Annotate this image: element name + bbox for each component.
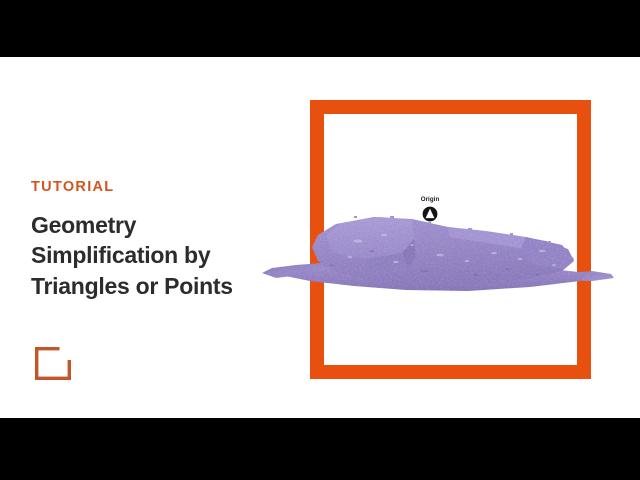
origin-gizmo[interactable]: Origin — [406, 197, 454, 229]
text-block: TUTORIAL Geometry Simplification by Tria… — [31, 180, 283, 301]
corner-bracket-logo — [35, 347, 71, 380]
origin-label: Origin — [406, 197, 454, 203]
headline-line-1: Geometry — [31, 210, 283, 241]
slide-stage: Origin TUTORIAL Geometry Simplification … — [0, 57, 640, 418]
letterbox-bar-bottom — [0, 418, 640, 480]
eyebrow-label: TUTORIAL — [31, 180, 283, 195]
letterbox-bar-top — [0, 0, 640, 57]
origin-cone-marker[interactable] — [422, 206, 438, 222]
orange-square-frame — [310, 100, 591, 379]
page-title: Geometry Simplification by Triangles or … — [31, 210, 283, 302]
headline-line-2: Simplification by — [31, 240, 283, 271]
headline-line-3: Triangles or Points — [31, 271, 283, 302]
corner-bracket-icon — [35, 347, 71, 380]
title-card: Origin TUTORIAL Geometry Simplification … — [0, 0, 640, 480]
